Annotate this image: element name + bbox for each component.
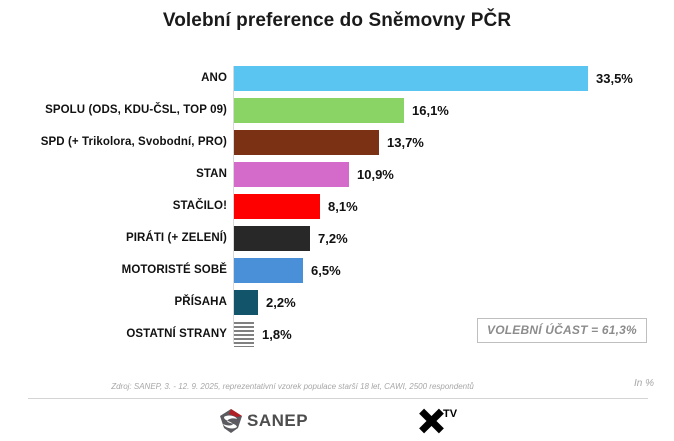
- bar-value-label: 6,5%: [311, 263, 341, 278]
- bar-group: 16,1%: [234, 94, 449, 126]
- bar-value-label: 7,2%: [318, 231, 348, 246]
- bar-group: 8,1%: [234, 190, 358, 222]
- bar-group: 10,9%: [234, 158, 394, 190]
- xtv-logo: TV: [419, 409, 457, 433]
- bar-row: STAČILO! 8,1%: [0, 190, 674, 222]
- bar-chart-plot: ANO 33,5% SPOLU (ODS, KDU-ČSL, TOP 09) 1…: [0, 62, 674, 352]
- bar-category-label: PIRÁTI (+ ZELENÍ): [0, 232, 227, 244]
- bar-value-label: 13,7%: [387, 135, 424, 150]
- bar-category-label: STAN: [0, 168, 227, 180]
- bar-ostatni-strany: [234, 322, 254, 347]
- bar-group: 33,5%: [234, 62, 633, 94]
- bar-category-label: MOTORISTÉ SOBĚ: [0, 264, 227, 276]
- bar-group: 6,5%: [234, 254, 341, 286]
- bar-group: 1,8%: [234, 318, 292, 350]
- x-mark-icon: [419, 409, 443, 433]
- bar-value-label: 8,1%: [328, 199, 358, 214]
- turnout-annotation: VOLEBNÍ ÚČAST = 61,3%: [477, 318, 647, 343]
- bar-row: MOTORISTÉ SOBĚ 6,5%: [0, 254, 674, 286]
- page-title: Volební preference do Sněmovny PČR: [0, 10, 674, 32]
- bar-group: 7,2%: [234, 222, 348, 254]
- bar-stacilo: [234, 194, 320, 219]
- bar-group: 13,7%: [234, 126, 424, 158]
- bar-row: PŘÍSAHA 2,2%: [0, 286, 674, 318]
- bar-category-label: SPOLU (ODS, KDU-ČSL, TOP 09): [0, 104, 227, 116]
- sanep-wordmark: SANEP: [247, 411, 308, 431]
- bar-prisaha: [234, 290, 258, 315]
- footer-divider: [28, 398, 648, 399]
- bar-value-label: 2,2%: [266, 295, 296, 310]
- unit-note: In %: [634, 378, 654, 389]
- bar-value-label: 10,9%: [357, 167, 394, 182]
- bar-category-label: STAČILO!: [0, 200, 227, 212]
- bar-category-label: SPD (+ Trikolora, Svobodní, PRO): [0, 136, 227, 148]
- bar-row: SPOLU (ODS, KDU-ČSL, TOP 09) 16,1%: [0, 94, 674, 126]
- bar-pirati: [234, 226, 310, 251]
- bar-category-label: OSTATNÍ STRANY: [0, 328, 227, 340]
- bar-ano: [234, 66, 588, 91]
- bar-row: SPD (+ Trikolora, Svobodní, PRO) 13,7%: [0, 126, 674, 158]
- sanep-logo: SANEP: [218, 408, 308, 434]
- bar-value-label: 1,8%: [262, 327, 292, 342]
- bar-value-label: 16,1%: [412, 103, 449, 118]
- bar-spd: [234, 130, 379, 155]
- bar-category-label: PŘÍSAHA: [0, 296, 227, 308]
- bar-stan: [234, 162, 349, 187]
- bar-row: STAN 10,9%: [0, 158, 674, 190]
- source-note: Zdroj: SANEP, 3. - 12. 9. 2025, reprezen…: [0, 382, 585, 391]
- tv-wordmark: TV: [443, 408, 457, 420]
- bar-spolu: [234, 98, 404, 123]
- bar-row: ANO 33,5%: [0, 62, 674, 94]
- bar-value-label: 33,5%: [596, 71, 633, 86]
- sanep-mark-icon: [218, 408, 244, 434]
- bar-category-label: ANO: [0, 72, 227, 84]
- bar-row: PIRÁTI (+ ZELENÍ) 7,2%: [0, 222, 674, 254]
- bar-group: 2,2%: [234, 286, 296, 318]
- footer-logos: SANEP TV: [0, 404, 674, 441]
- bar-motoriste: [234, 258, 303, 283]
